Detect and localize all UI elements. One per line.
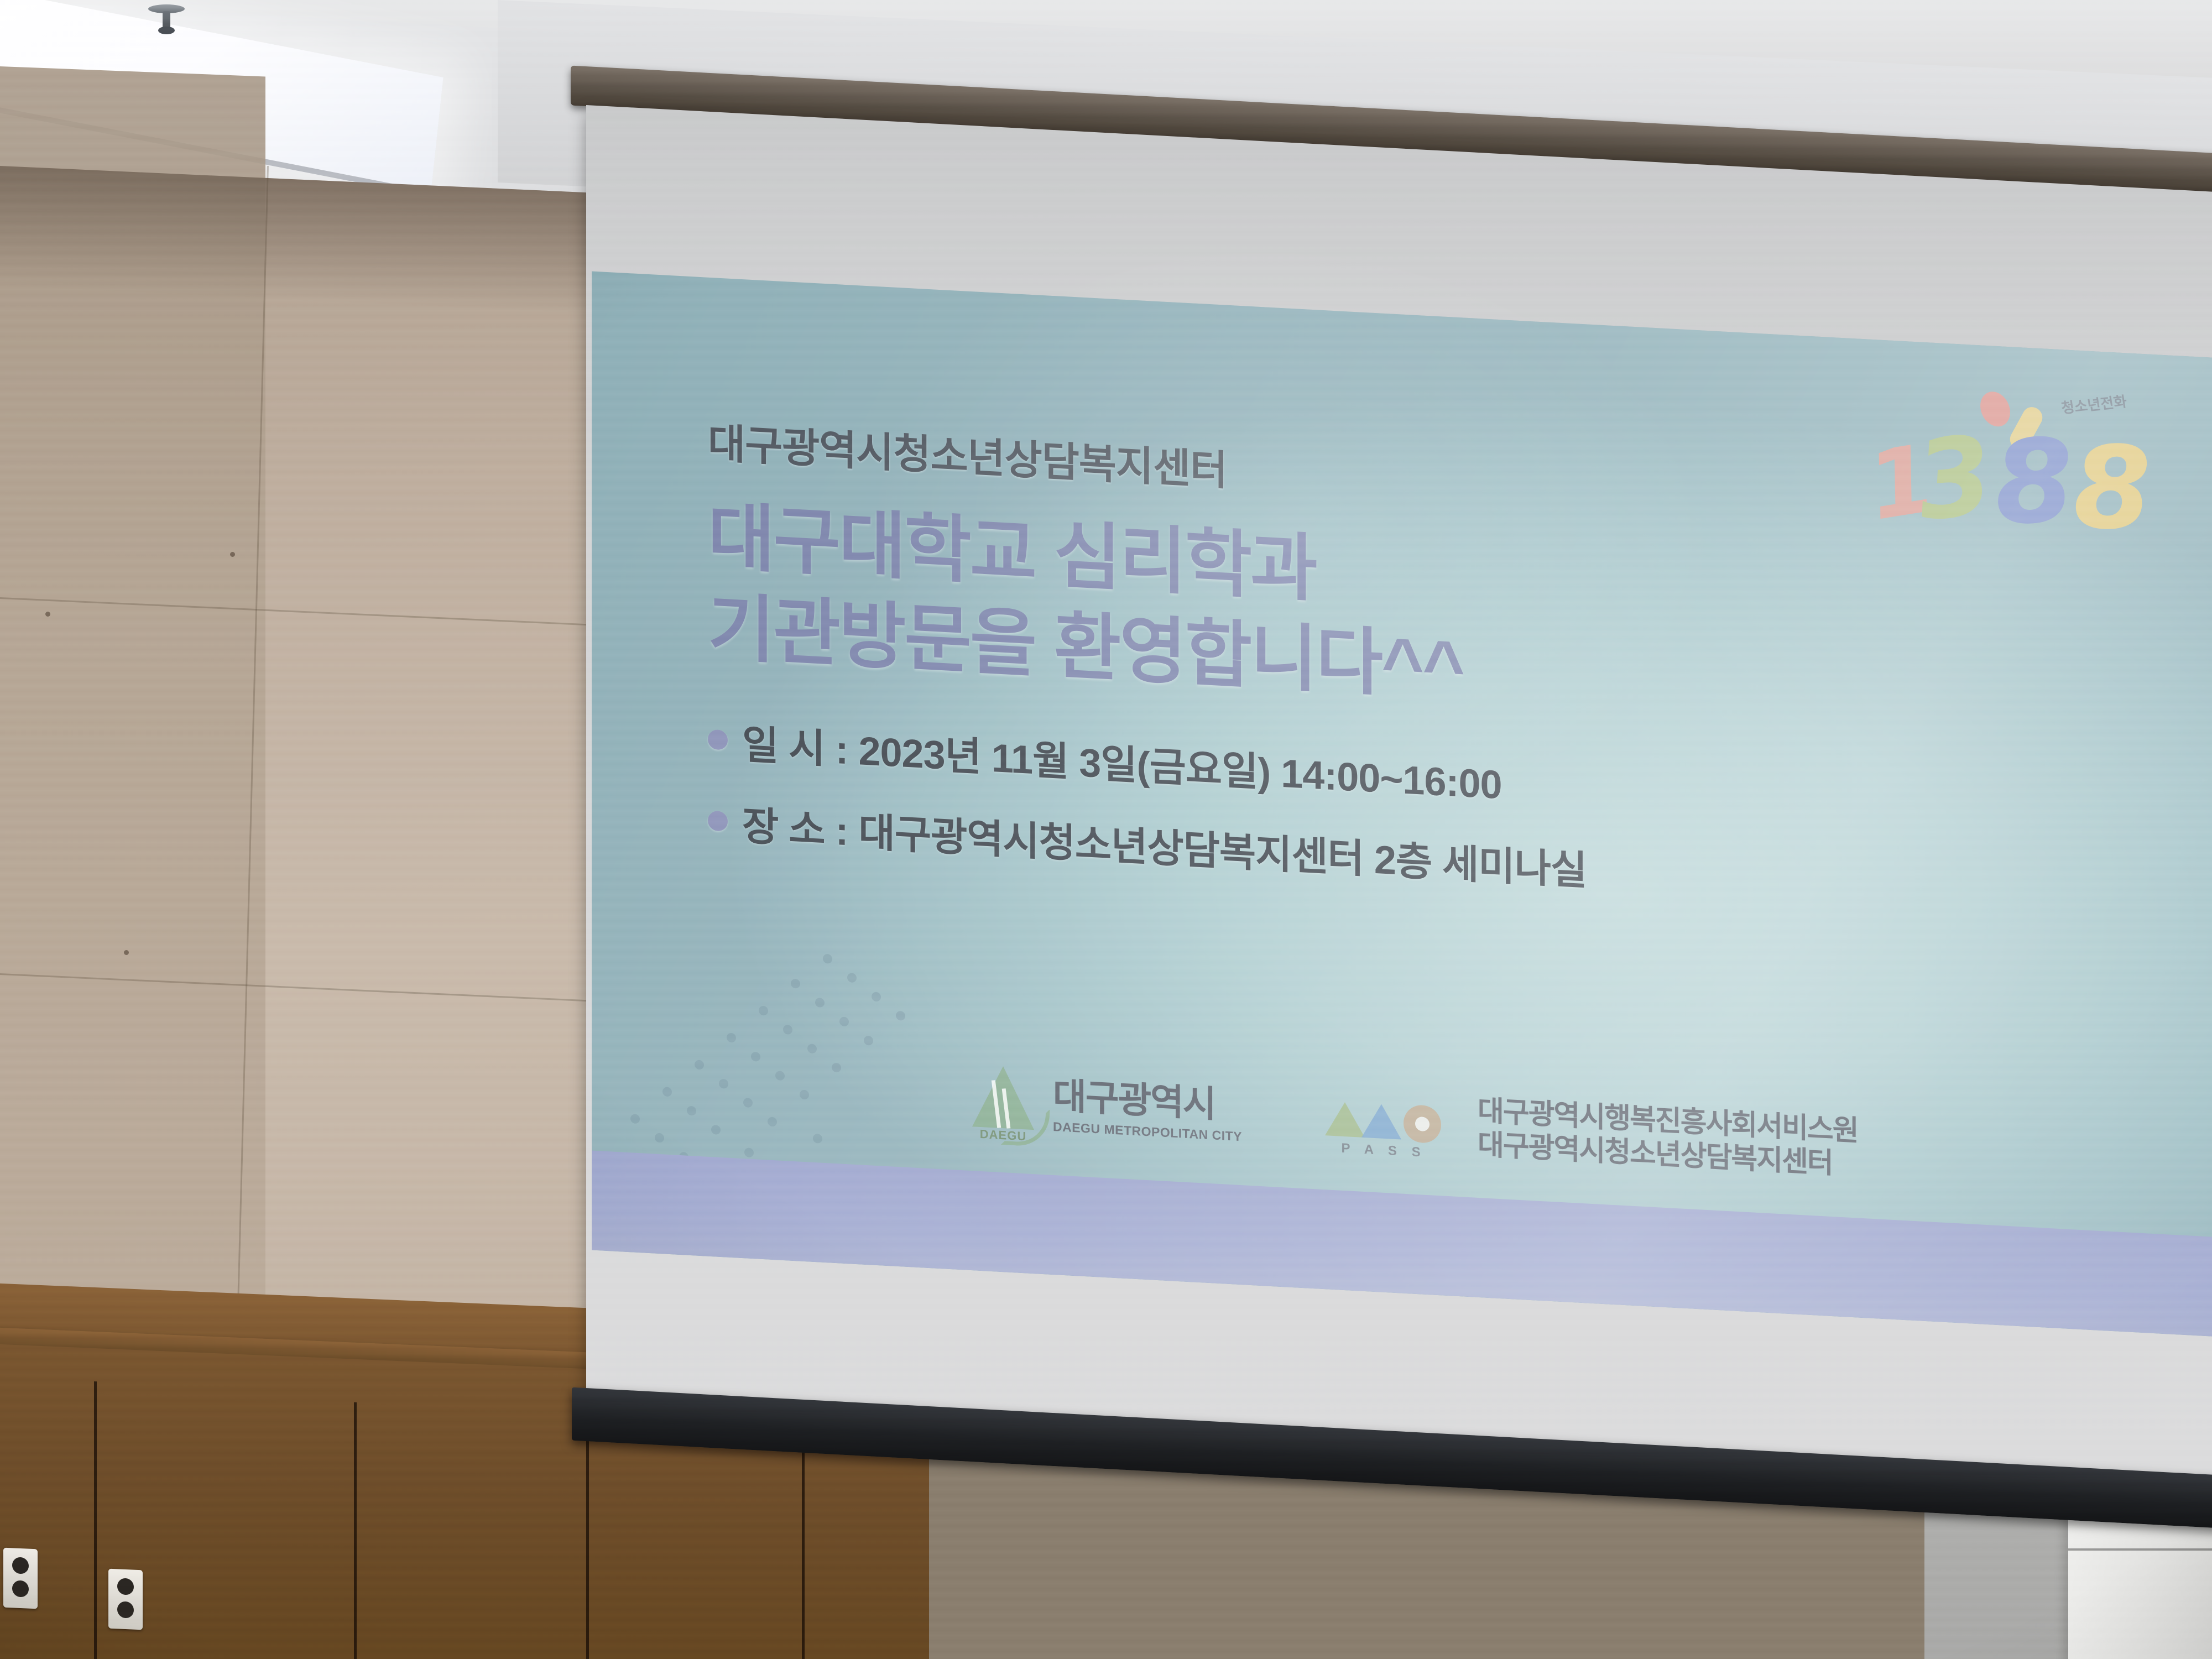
- daegu-korean-name: 대구광역시: [1053, 1077, 1242, 1123]
- pass-chevron-icon: P A S S: [1325, 1087, 1463, 1160]
- pass-circle-icon: [1404, 1104, 1441, 1144]
- slide-footer-logos: DAEGU 대구광역시 DAEGU METROPOLITAN CITY P A …: [968, 1065, 1858, 1185]
- slide-headline: 대구대학교 심리학과 기관방문을 환영합니다^^: [708, 492, 1869, 734]
- power-outlet[interactable]: [108, 1569, 143, 1630]
- logo-pass-organizations: P A S S 대구광역시행복진흥사회서비스원 대구광역시청소년상담복지센터: [1325, 1086, 1858, 1182]
- bullet-marker-icon: [708, 811, 728, 832]
- slide-text-block: 대구광역시청소년상담복지센터 대구대학교 심리학과 기관방문을 환영합니다^^ …: [708, 410, 1869, 935]
- logo-1388: 청소년전화 1 3 8 8: [1864, 372, 2173, 549]
- panel-fixing-dot: [45, 612, 50, 617]
- panel-fixing-dot: [230, 552, 235, 557]
- daegu-wordmark: 대구광역시 DAEGU METROPOLITAN CITY: [1053, 1077, 1242, 1144]
- logo-1388-tagline: 청소년전화: [2060, 384, 2189, 418]
- photo-scene: 대구광역시청소년상담복지센터 대구대학교 심리학과 기관방문을 환영합니다^^ …: [0, 0, 2212, 1659]
- bullet-text-datetime: 일 시 : 2023년 11월 3일(금요일) 14:00~16:00: [742, 712, 1502, 810]
- pass-wordmark: 대구광역시행복진흥사회서비스원 대구광역시청소년상담복지센터: [1478, 1094, 1858, 1182]
- slide-bullet-list: 일 시 : 2023년 11월 3일(금요일) 14:00~16:00 장 소 …: [708, 710, 1869, 911]
- panel-fixing-dot: [124, 950, 129, 955]
- logo-1388-digit-8-first: 8: [1990, 415, 2079, 550]
- pass-mark-label: P A S S: [1325, 1140, 1442, 1161]
- power-outlet[interactable]: [3, 1548, 38, 1609]
- daegu-mountain-icon: DAEGU: [968, 1065, 1039, 1141]
- fire-sprinkler-icon: [148, 4, 185, 34]
- logo-1388-digit-8-second: 8: [2070, 421, 2154, 556]
- projection-screen: 대구광역시청소년상담복지센터 대구대학교 심리학과 기관방문을 환영합니다^^ …: [586, 105, 2212, 1553]
- daegu-mark-text: DAEGU: [968, 1126, 1039, 1145]
- projected-slide: 대구광역시청소년상담복지센터 대구대학교 심리학과 기관방문을 환영합니다^^ …: [592, 272, 2212, 1338]
- decorative-dot-pattern: [630, 937, 940, 1186]
- bullet-text-location: 장 소 : 대구광역시청소년상담복지센터 2층 세미나실: [742, 793, 1587, 896]
- logo-daegu-metropolitan-city: DAEGU 대구광역시 DAEGU METROPOLITAN CITY: [968, 1065, 1242, 1152]
- bullet-marker-icon: [708, 729, 728, 750]
